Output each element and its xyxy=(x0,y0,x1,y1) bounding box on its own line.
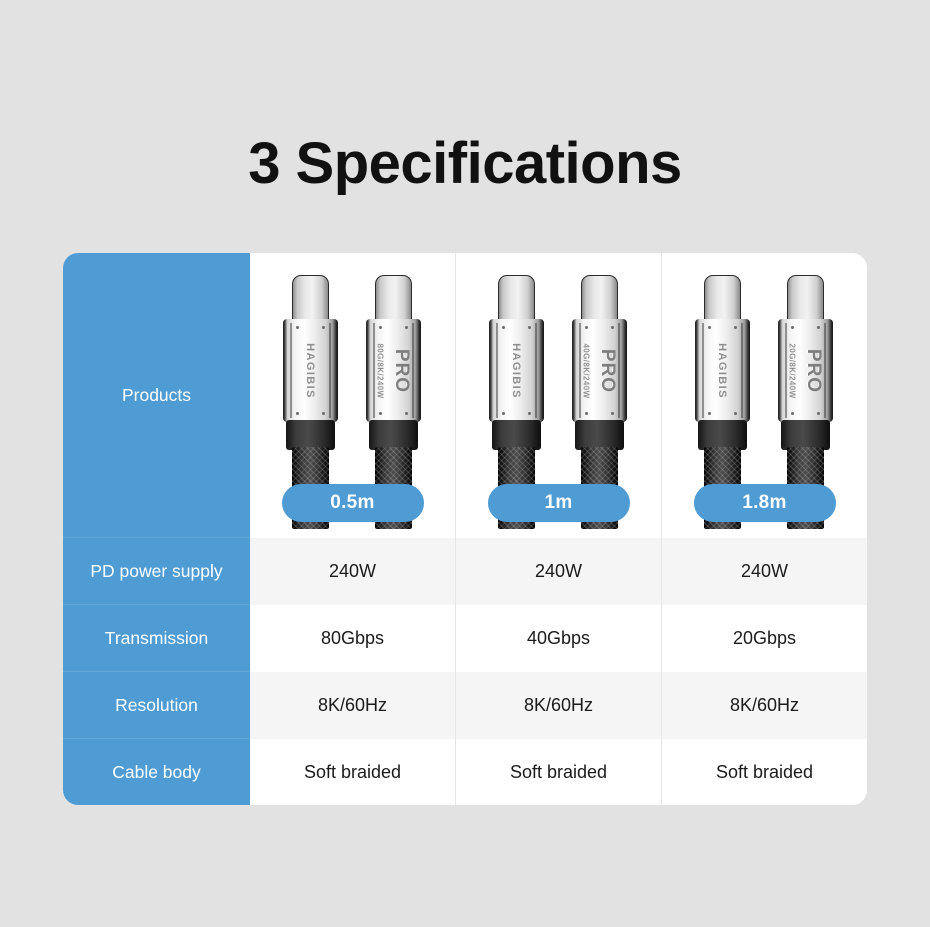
screw-dot-icon xyxy=(585,326,588,329)
product-cell-2[interactable]: HAGIBIS PRO xyxy=(662,253,867,538)
screw-dot-icon xyxy=(791,412,794,415)
spec-label-column: Products PD power supply Transmission Re… xyxy=(63,253,250,805)
transmission-value-1: 40Gbps xyxy=(456,605,662,672)
screw-dot-icon xyxy=(817,326,820,329)
connector-pro-label: PRO xyxy=(802,348,824,392)
screw-dot-icon xyxy=(296,326,299,329)
pd-power-value-1: 240W xyxy=(456,538,662,605)
resolution-value-2: 8K/60Hz xyxy=(662,672,867,739)
screw-dot-icon xyxy=(791,326,794,329)
length-badge-0: 0.5m xyxy=(282,484,424,522)
connector-spec-label: 20G/8K/240W xyxy=(787,343,796,398)
page-title: 3 Specifications xyxy=(0,132,930,196)
length-badge-2: 1.8m xyxy=(694,484,836,522)
connector-collar xyxy=(492,420,541,450)
connector-spec-label: 40G/8K/240W xyxy=(581,343,590,398)
connector-brand-label: HAGIBIS xyxy=(716,343,728,399)
resolution-value-1: 8K/60Hz xyxy=(456,672,662,739)
connector-collar xyxy=(781,420,830,450)
screw-dot-icon xyxy=(502,326,505,329)
table-row-products: HAGIBIS PRO xyxy=(250,253,867,538)
row-label-transmission: Transmission xyxy=(63,605,250,672)
table-row-transmission: 80Gbps 40Gbps 20Gbps xyxy=(250,605,867,672)
pd-power-value-2: 240W xyxy=(662,538,867,605)
connector-collar xyxy=(286,420,335,450)
usb-c-tip-icon xyxy=(375,275,412,321)
screw-dot-icon xyxy=(708,326,711,329)
specifications-table: Products PD power supply Transmission Re… xyxy=(63,253,867,805)
row-label-resolution: Resolution xyxy=(63,672,250,739)
usb-c-tip-icon xyxy=(581,275,618,321)
spec-data-area: HAGIBIS PRO xyxy=(250,253,867,805)
screw-dot-icon xyxy=(296,412,299,415)
screw-dot-icon xyxy=(528,326,531,329)
transmission-value-0: 80Gbps xyxy=(250,605,456,672)
screw-dot-icon xyxy=(708,412,711,415)
screw-dot-icon xyxy=(817,412,820,415)
usb-c-tip-icon xyxy=(787,275,824,321)
connector-spec-label: 80G/8K/240W xyxy=(375,343,384,398)
connector-barrel: PRO 40G/8K/240W xyxy=(572,319,627,422)
usb-c-tip-icon xyxy=(704,275,741,321)
usb-c-tip-icon xyxy=(498,275,535,321)
product-cell-0[interactable]: HAGIBIS PRO xyxy=(250,253,456,538)
length-badge-1: 1m xyxy=(488,484,630,522)
screw-dot-icon xyxy=(734,326,737,329)
connector-barrel: HAGIBIS xyxy=(489,319,544,422)
screw-dot-icon xyxy=(379,412,382,415)
connector-barrel: PRO 80G/8K/240W xyxy=(366,319,421,422)
product-cell-1[interactable]: HAGIBIS PRO xyxy=(456,253,662,538)
screw-dot-icon xyxy=(405,326,408,329)
screw-dot-icon xyxy=(611,412,614,415)
table-row-cable-body: Soft braided Soft braided Soft braided xyxy=(250,739,867,805)
resolution-value-0: 8K/60Hz xyxy=(250,672,456,739)
connector-pro-label: PRO xyxy=(390,348,412,392)
row-label-products: Products xyxy=(63,253,250,538)
screw-dot-icon xyxy=(322,412,325,415)
transmission-value-2: 20Gbps xyxy=(662,605,867,672)
screw-dot-icon xyxy=(322,326,325,329)
screw-dot-icon xyxy=(379,326,382,329)
specification-page: 3 Specifications Products PD power suppl… xyxy=(0,0,930,927)
screw-dot-icon xyxy=(502,412,505,415)
screw-dot-icon xyxy=(585,412,588,415)
row-label-cable-body: Cable body xyxy=(63,739,250,805)
cable-body-value-2: Soft braided xyxy=(662,739,867,805)
connector-collar xyxy=(698,420,747,450)
usb-c-tip-icon xyxy=(292,275,329,321)
connector-brand-label: HAGIBIS xyxy=(510,343,522,399)
screw-dot-icon xyxy=(528,412,531,415)
connector-brand-label: HAGIBIS xyxy=(304,343,316,399)
connector-barrel: HAGIBIS xyxy=(695,319,750,422)
connector-pro-label: PRO xyxy=(596,348,618,392)
table-row-pd-power-supply: 240W 240W 240W xyxy=(250,538,867,605)
connector-collar xyxy=(575,420,624,450)
row-label-pd-power-supply: PD power supply xyxy=(63,538,250,605)
pd-power-value-0: 240W xyxy=(250,538,456,605)
screw-dot-icon xyxy=(405,412,408,415)
connector-barrel: PRO 20G/8K/240W xyxy=(778,319,833,422)
table-row-resolution: 8K/60Hz 8K/60Hz 8K/60Hz xyxy=(250,672,867,739)
connector-barrel: HAGIBIS xyxy=(283,319,338,422)
cable-body-value-0: Soft braided xyxy=(250,739,456,805)
cable-body-value-1: Soft braided xyxy=(456,739,662,805)
screw-dot-icon xyxy=(611,326,614,329)
connector-collar xyxy=(369,420,418,450)
screw-dot-icon xyxy=(734,412,737,415)
